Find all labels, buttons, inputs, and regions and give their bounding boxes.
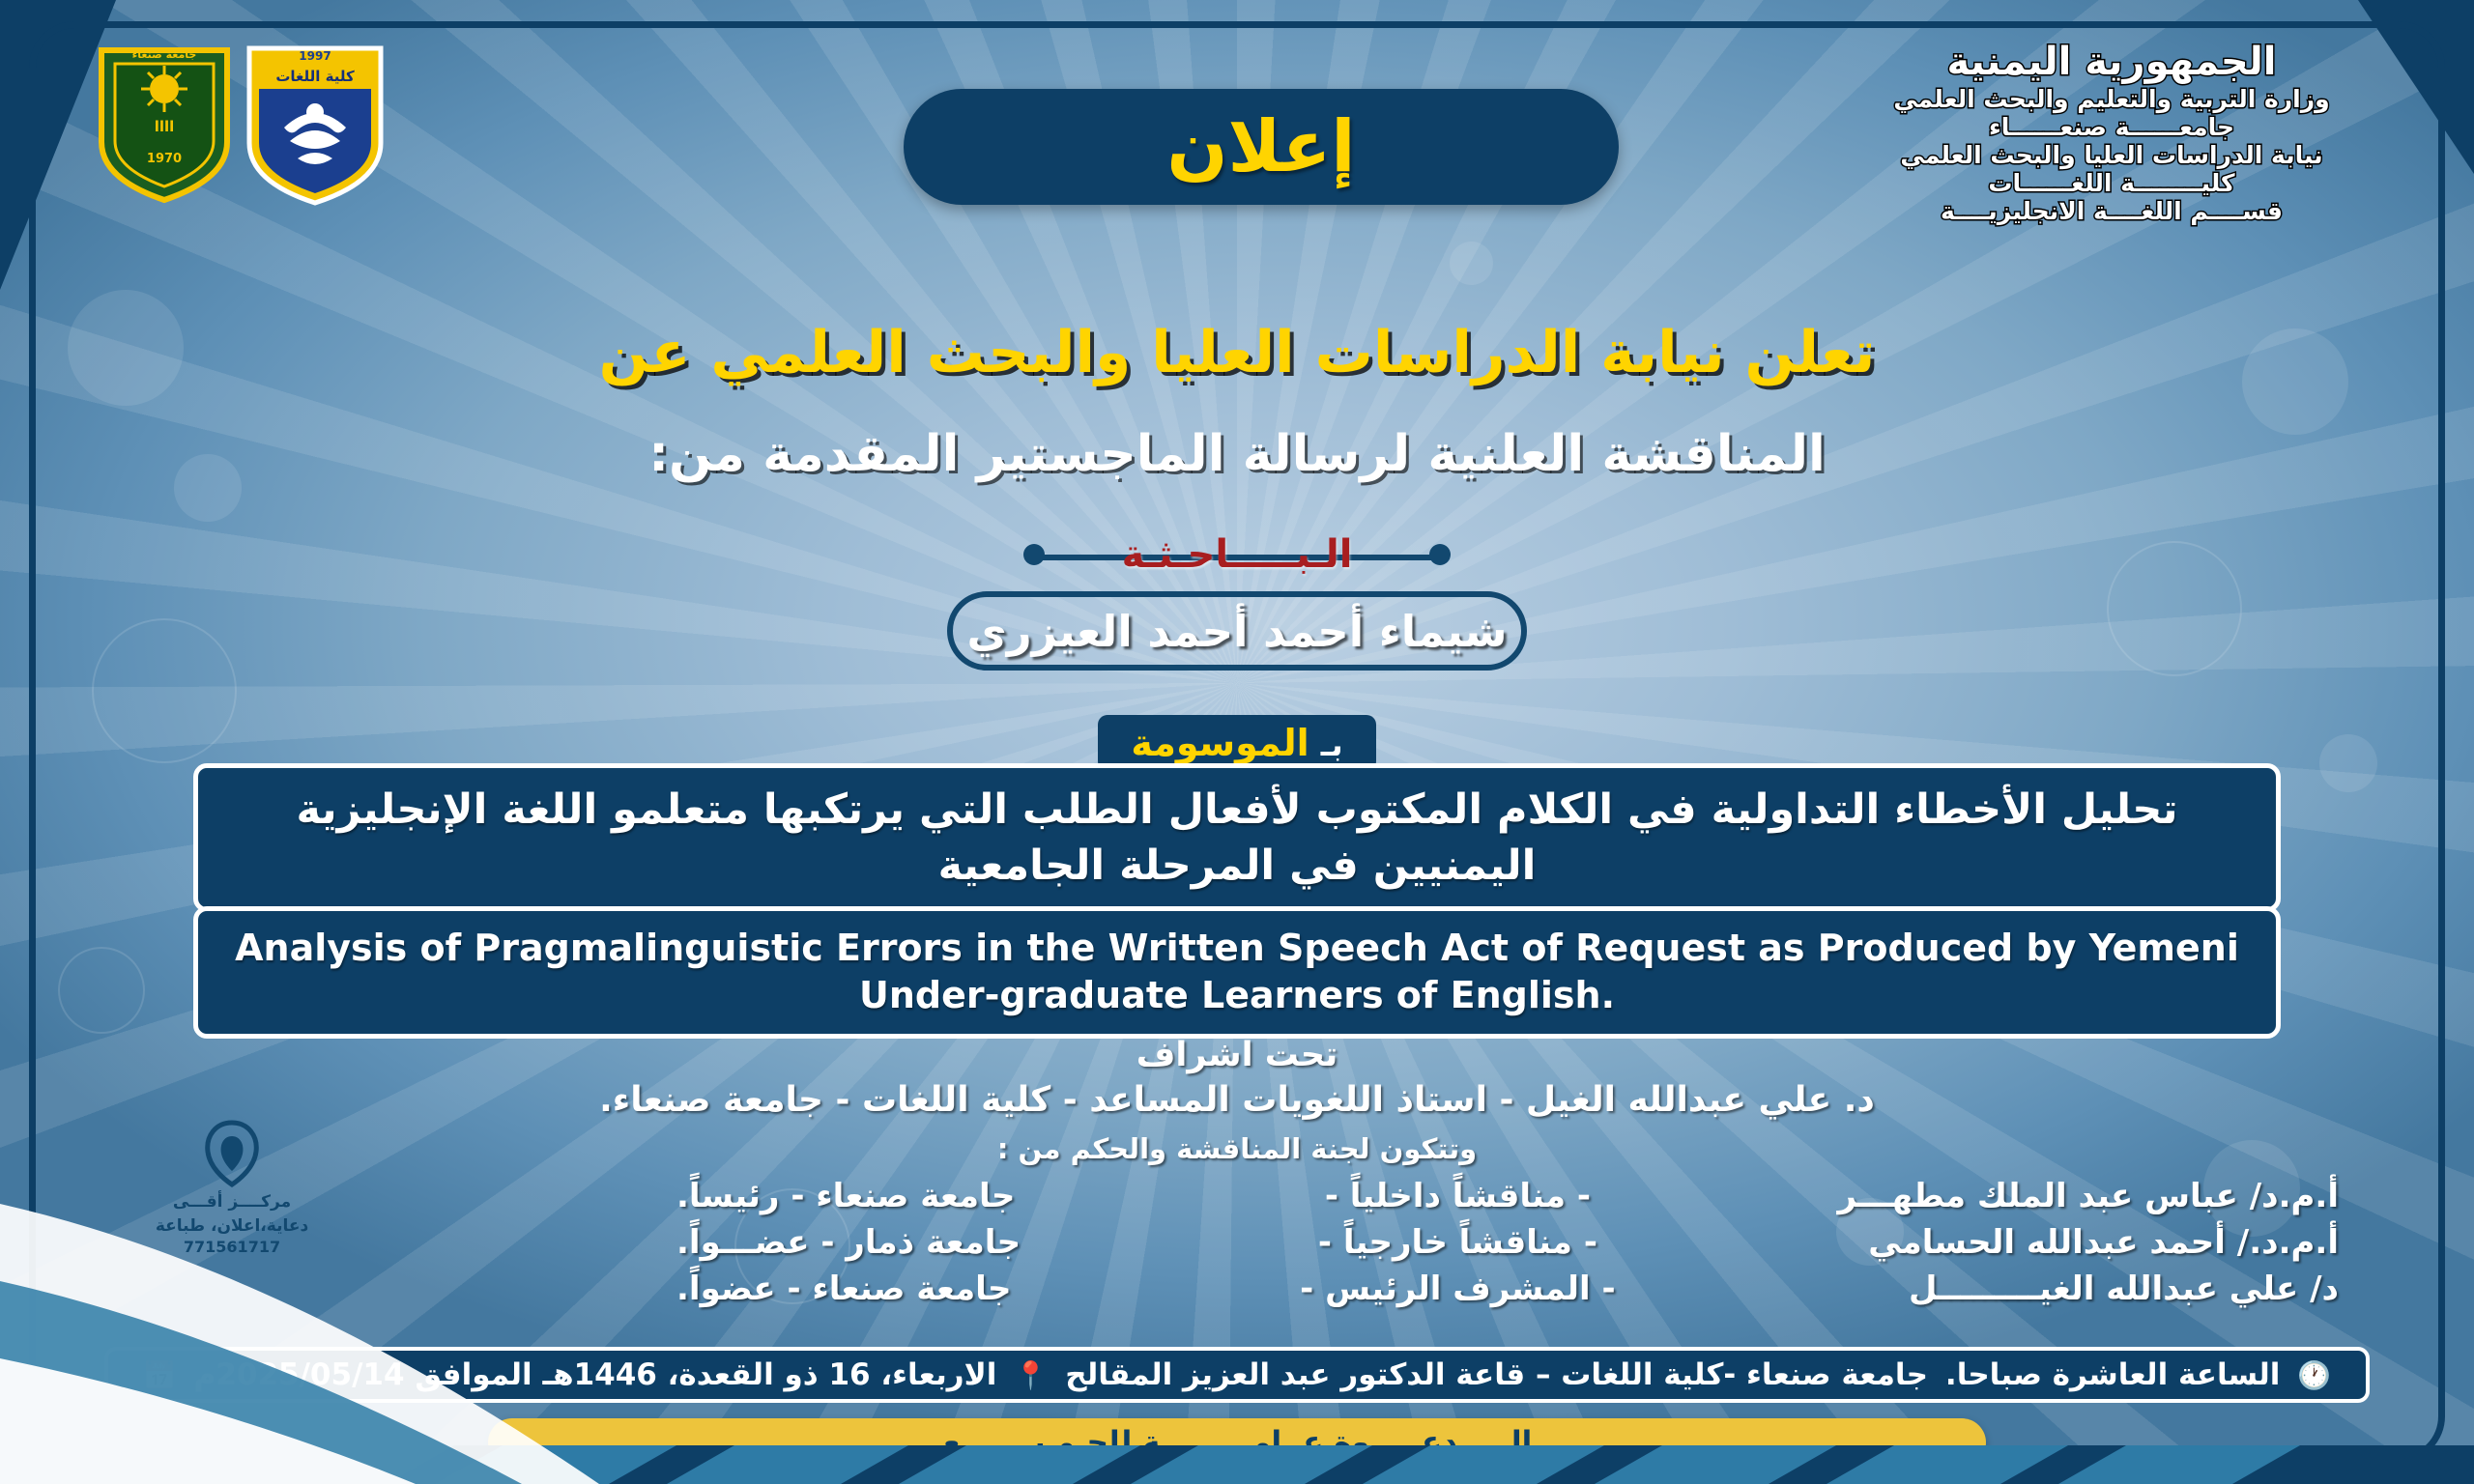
- ministry-line-3: نيابة الدراسات العليا والبحث العلمي: [1822, 143, 2402, 168]
- headline-primary: تعلن نيابة الدراسات العليا والبحث العلمي…: [0, 319, 2474, 386]
- location-pin-icon: 📍: [1014, 1359, 1048, 1391]
- thesis-title-arabic: تحليل الأخطاء التداولية في الكلام المكتو…: [193, 763, 2281, 912]
- event-date: الاربعاء، 16 ذو القعدة، 1446هـ الموافق 2…: [194, 1357, 997, 1392]
- event-info-bar: 🕐 الساعة العاشرة صباحا. جامعة صنعاء -كلي…: [104, 1347, 2370, 1403]
- researcher-name: شيماء أحمد أحمد العيزري: [967, 606, 1508, 657]
- tagged-label: الموسومة: [1131, 722, 1309, 764]
- committee-member-name: أ.م.د/ عباس عبد الملك مطهـــر: [1707, 1173, 2339, 1219]
- table-row: د/ علي عبدالله الغيـــــــــل - المشرف ا…: [676, 1266, 2339, 1312]
- ministry-header: الجمهورية اليمنية وزارة التربية والتعليم…: [1822, 43, 2402, 224]
- svg-text:1970: 1970: [147, 152, 182, 166]
- committee-table: أ.م.د/ عباس عبد الملك مطهـــر - مناقشاً …: [676, 1173, 2339, 1312]
- calendar-icon: 📅: [143, 1359, 177, 1391]
- institution-logos: ﺍﺍﺍﺍ 1970 جامعة صنعاء 1997 كلية اللغات: [92, 39, 507, 213]
- committee-member-affiliation: جامعة صنعاء - رئيساً.: [676, 1173, 1208, 1219]
- headline-secondary: المناقشة العلنية لرسالة الماجستير المقدم…: [0, 425, 2474, 483]
- faculty-of-languages-logo: 1997 كلية اللغات: [249, 48, 381, 203]
- thesis-title-english: Analysis of Pragmalinguistic Errors in t…: [193, 906, 2281, 1039]
- committee-member-name: د/ علي عبدالله الغيـــــــــل: [1707, 1266, 2339, 1312]
- sponsor-phone: 771561717: [126, 1238, 338, 1256]
- supervisor-name: د. علي عبدالله الغيل - استاذ اللغويات ال…: [0, 1080, 2474, 1120]
- bottom-chevron-strip: [0, 1413, 2474, 1484]
- committee-member-role: - المشرف الرئيس -: [1208, 1266, 1707, 1312]
- table-row: أ.م.د./ أحمد عبدالله الحسامي - مناقشاً خ…: [676, 1219, 2339, 1266]
- svg-text:1997: 1997: [299, 49, 331, 63]
- researcher-label-dot-left: [1023, 544, 1045, 565]
- clock-icon: 🕐: [2297, 1359, 2331, 1391]
- event-venue: جامعة صنعاء -كلية اللغات – قاعة الدكتور …: [1065, 1357, 1928, 1392]
- committee-heading: وتتكون لجنة المناقشة والحكم من :: [0, 1132, 2474, 1165]
- announcement-banner: إعلان: [904, 89, 1619, 205]
- ministry-line-2: جامعــــــة صنعــــــاء: [1822, 115, 2402, 140]
- announcement-banner-text: إعلان: [1166, 105, 1355, 188]
- poster-canvas: ﺍﺍﺍﺍ 1970 جامعة صنعاء 1997 كلية اللغات إ…: [0, 0, 2474, 1484]
- committee-member-role: - مناقشاً خارجياً -: [1208, 1219, 1707, 1266]
- ministry-line-1: وزارة التربية والتعليم والبحث العلمي: [1822, 87, 2402, 112]
- ministry-line-4: كليــــــــة اللغــــــات: [1822, 171, 2402, 196]
- ministry-line-5: قســــم اللغــــة الانجليزيــــة: [1822, 199, 2402, 224]
- republic-name: الجمهورية اليمنية: [1822, 43, 2402, 83]
- svg-text:ﺍﺍﺍﺍ: ﺍﺍﺍﺍ: [155, 118, 175, 135]
- committee-member-affiliation: جامعة ذمار - عضـــواً.: [676, 1219, 1208, 1266]
- svg-text:كلية اللغات: كلية اللغات: [275, 68, 355, 85]
- sponsor-block: مركــــز أقـــى دعاية،اعلان، طباعة 77156…: [126, 1119, 338, 1256]
- researcher-label-wrap: الـبـــــاحـثـة: [1029, 529, 1445, 580]
- researcher-label: الـبـــــاحـثـة: [1112, 532, 1363, 577]
- committee-member-affiliation: جامعة صنعاء - عضواً.: [676, 1266, 1208, 1312]
- committee-member-name: أ.م.د./ أحمد عبدالله الحسامي: [1707, 1219, 2339, 1266]
- committee-member-role: - مناقشاً داخلياً -: [1208, 1173, 1707, 1219]
- researcher-label-dot-right: [1429, 544, 1451, 565]
- tagged-preposition: بـ: [1321, 727, 1343, 763]
- svg-text:جامعة صنعاء: جامعة صنعاء: [132, 48, 197, 61]
- sponsor-service: دعاية،اعلان، طباعة: [126, 1216, 338, 1237]
- event-time: الساعة العاشرة صباحا.: [1945, 1357, 2281, 1392]
- sponsor-name: مركــــز أقـــى: [126, 1192, 338, 1213]
- sanaa-university-logo: ﺍﺍﺍﺍ 1970 جامعة صنعاء: [101, 48, 227, 200]
- sponsor-logo-icon: [190, 1119, 273, 1188]
- researcher-section: الـبـــــاحـثـة شيماء أحمد أحمد العيزري: [0, 529, 2474, 671]
- table-row: أ.م.د/ عباس عبد الملك مطهـــر - مناقشاً …: [676, 1173, 2339, 1219]
- researcher-name-box: شيماء أحمد أحمد العيزري: [947, 591, 1527, 671]
- supervision-heading: تحت اشراف: [0, 1036, 2474, 1074]
